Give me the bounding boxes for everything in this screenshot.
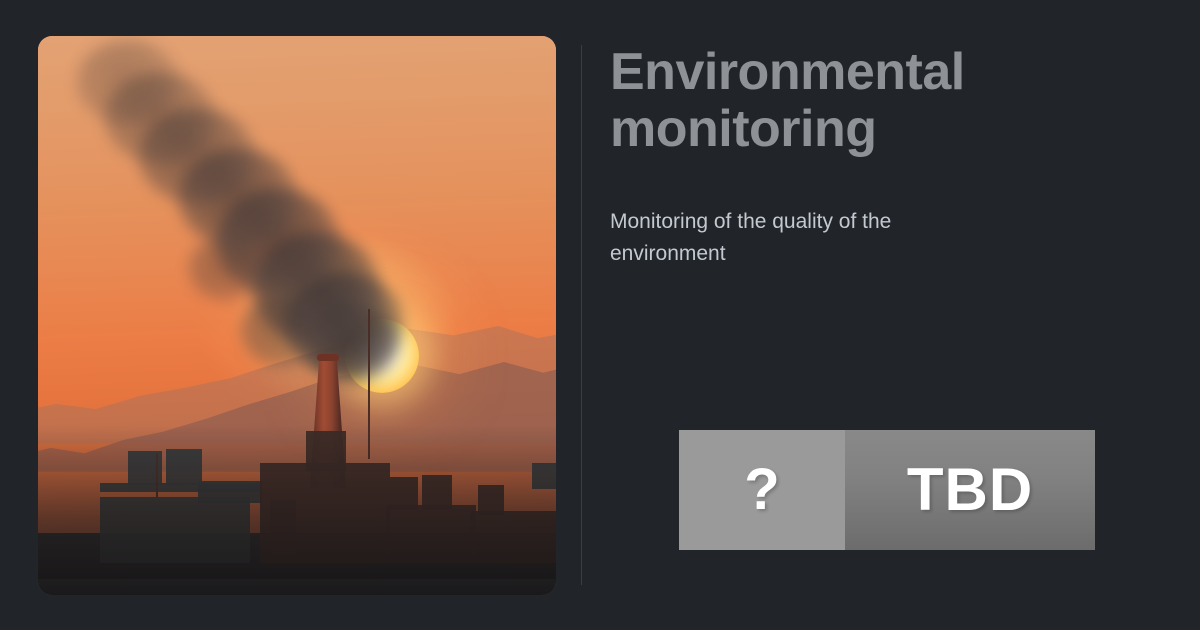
tank-silhouette [166,449,202,485]
text-column: Environmental monitoring Monitoring of t… [610,44,1130,270]
tbd-badge-icon-section: ? [679,430,845,550]
deck-structure [198,481,262,503]
deck-structure [386,505,476,563]
vertical-divider [581,45,582,585]
deck-structure [470,511,556,563]
smokestack-sunset-photo [38,36,556,595]
mast-pole [156,453,158,497]
tbd-badge[interactable]: ? TBD [679,430,1095,550]
smoke-puff [240,294,324,368]
preview-card: Environmental monitoring Monitoring of t… [0,0,1200,630]
page-subtitle: Monitoring of the quality of the environ… [610,206,950,270]
photo-canvas [38,36,556,595]
superstructure-block [260,463,390,563]
industrial-silhouette [38,439,556,595]
mast-pole [368,309,370,459]
chimney-cap [317,354,339,361]
mast-platform [532,463,556,489]
funnel-silhouette [306,431,346,471]
tbd-badge-label: TBD [907,460,1033,520]
tbd-badge-label-section: TBD [845,430,1095,550]
question-mark-icon: ? [744,461,779,519]
deckhouse-block [100,497,250,563]
smoke-puff [76,40,180,124]
waterline [38,579,556,595]
page-title: Environmental monitoring [610,44,1130,158]
tank-silhouette [422,475,452,509]
